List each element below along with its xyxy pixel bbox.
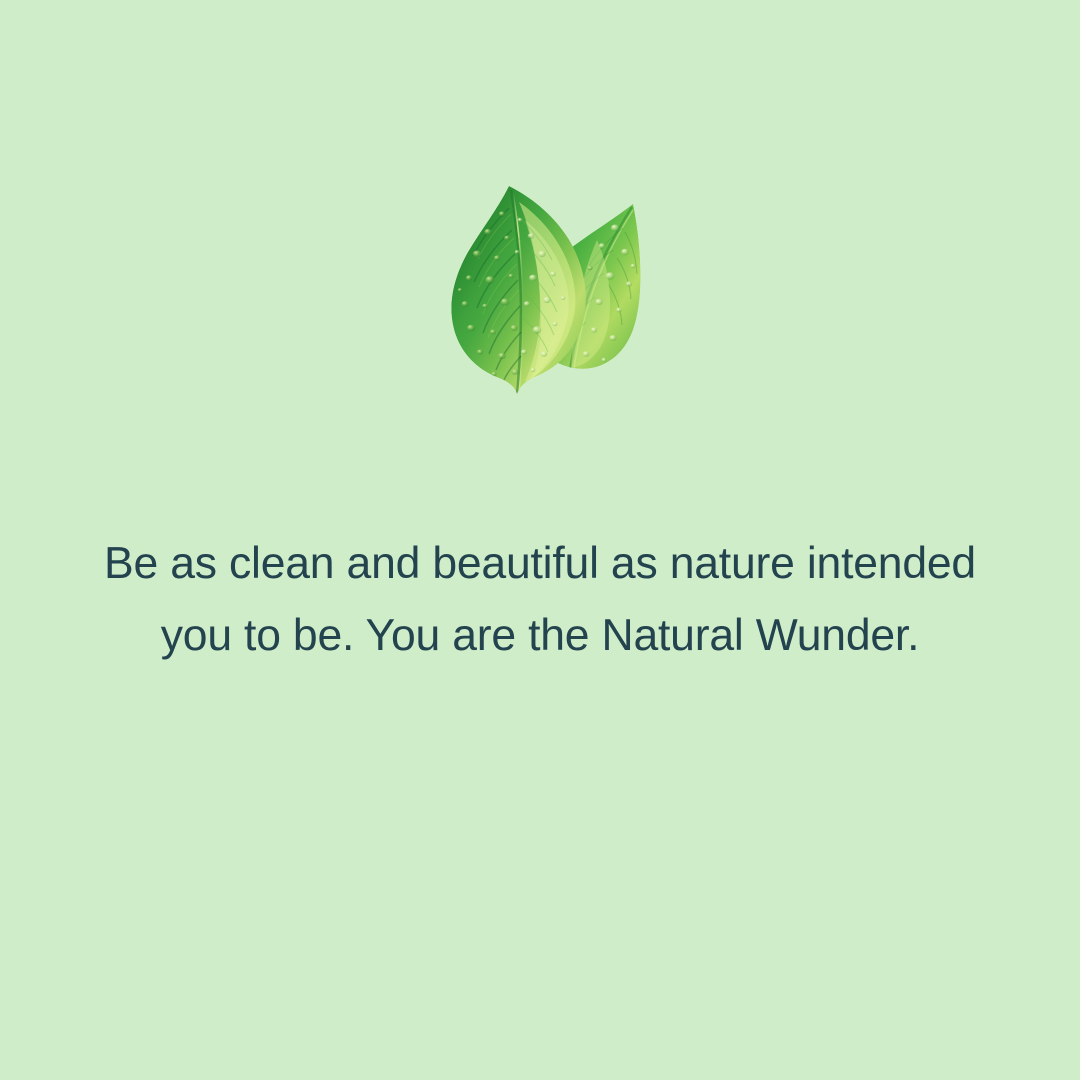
poster-canvas: Be as clean and beautiful as nature inte… xyxy=(0,0,1080,1080)
quote-line-2: you to be. You are the Natural Wunder. xyxy=(80,600,1000,672)
quote-text: Be as clean and beautiful as nature inte… xyxy=(80,528,1000,672)
two-dewy-green-leaves-icon xyxy=(447,180,643,412)
quote-line-1: Be as clean and beautiful as nature inte… xyxy=(80,528,1000,600)
